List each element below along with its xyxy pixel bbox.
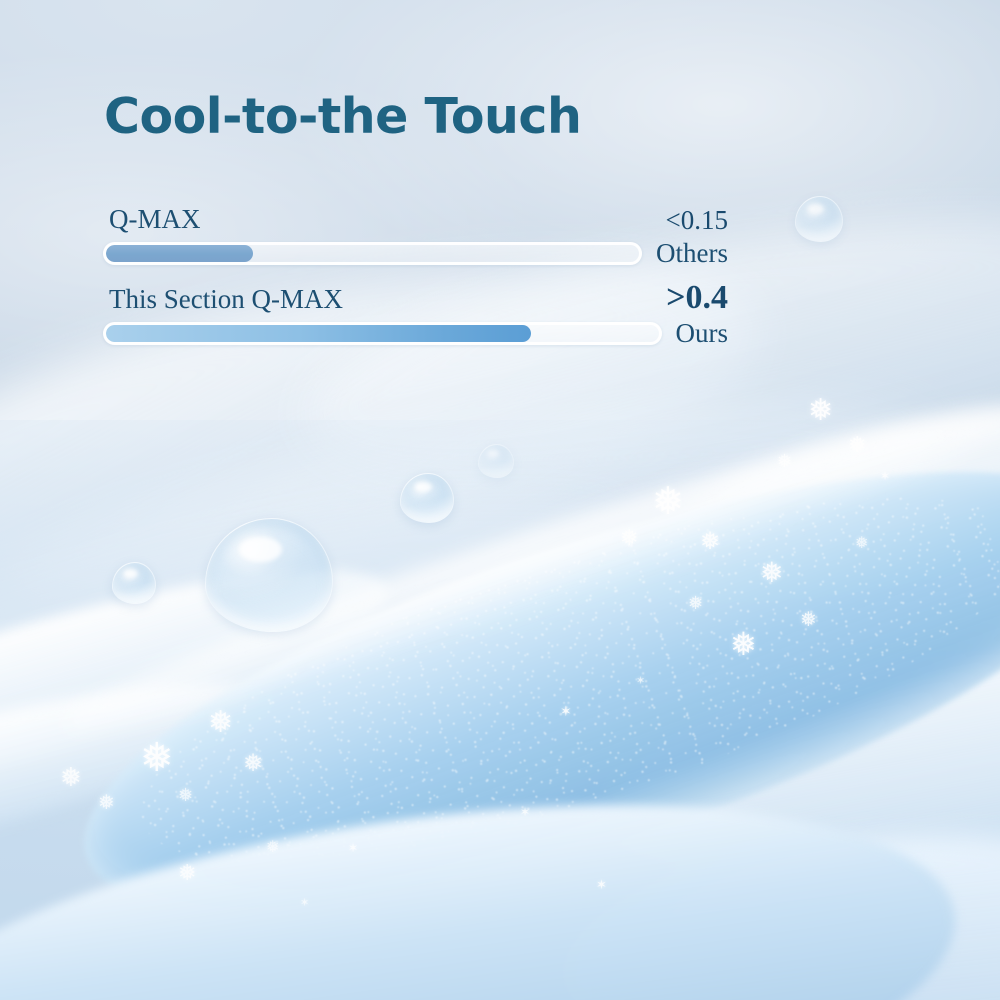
bar-caption-others: Others	[656, 238, 728, 269]
bar-row-ours: Ours	[103, 318, 728, 349]
metric-label-qmax: Q-MAX	[109, 204, 201, 235]
progress-track-others	[103, 242, 642, 265]
poster-canvas: ❅ ❅ ❅ ❅ ❅ ❅ ❅ ❅ ❅ ❅ ❅ ❅ ❅ ❅ ❅ ❅ ❅ ❅ ❅ ✶ …	[0, 0, 1000, 1000]
metric-header: This Section Q-MAX >0.4	[103, 284, 728, 318]
bar-row-others: Others	[103, 238, 728, 269]
metric-row-ours: This Section Q-MAX >0.4 Ours	[103, 284, 728, 349]
metric-value-others: <0.15	[666, 205, 728, 236]
metric-header: Q-MAX <0.15	[103, 204, 728, 238]
page-title: Cool-to-the Touch	[104, 88, 581, 145]
metric-row-others: Q-MAX <0.15 Others	[103, 204, 728, 269]
bar-caption-ours: Ours	[676, 318, 729, 349]
progress-fill-ours	[106, 325, 531, 342]
progress-fill-others	[106, 245, 253, 262]
metric-value-ours: >0.4	[666, 279, 728, 317]
metric-label-this-section-qmax: This Section Q-MAX	[109, 284, 343, 315]
content-layer: Cool-to-the Touch Q-MAX <0.15 Others Thi…	[0, 0, 1000, 1000]
progress-track-ours	[103, 322, 662, 345]
